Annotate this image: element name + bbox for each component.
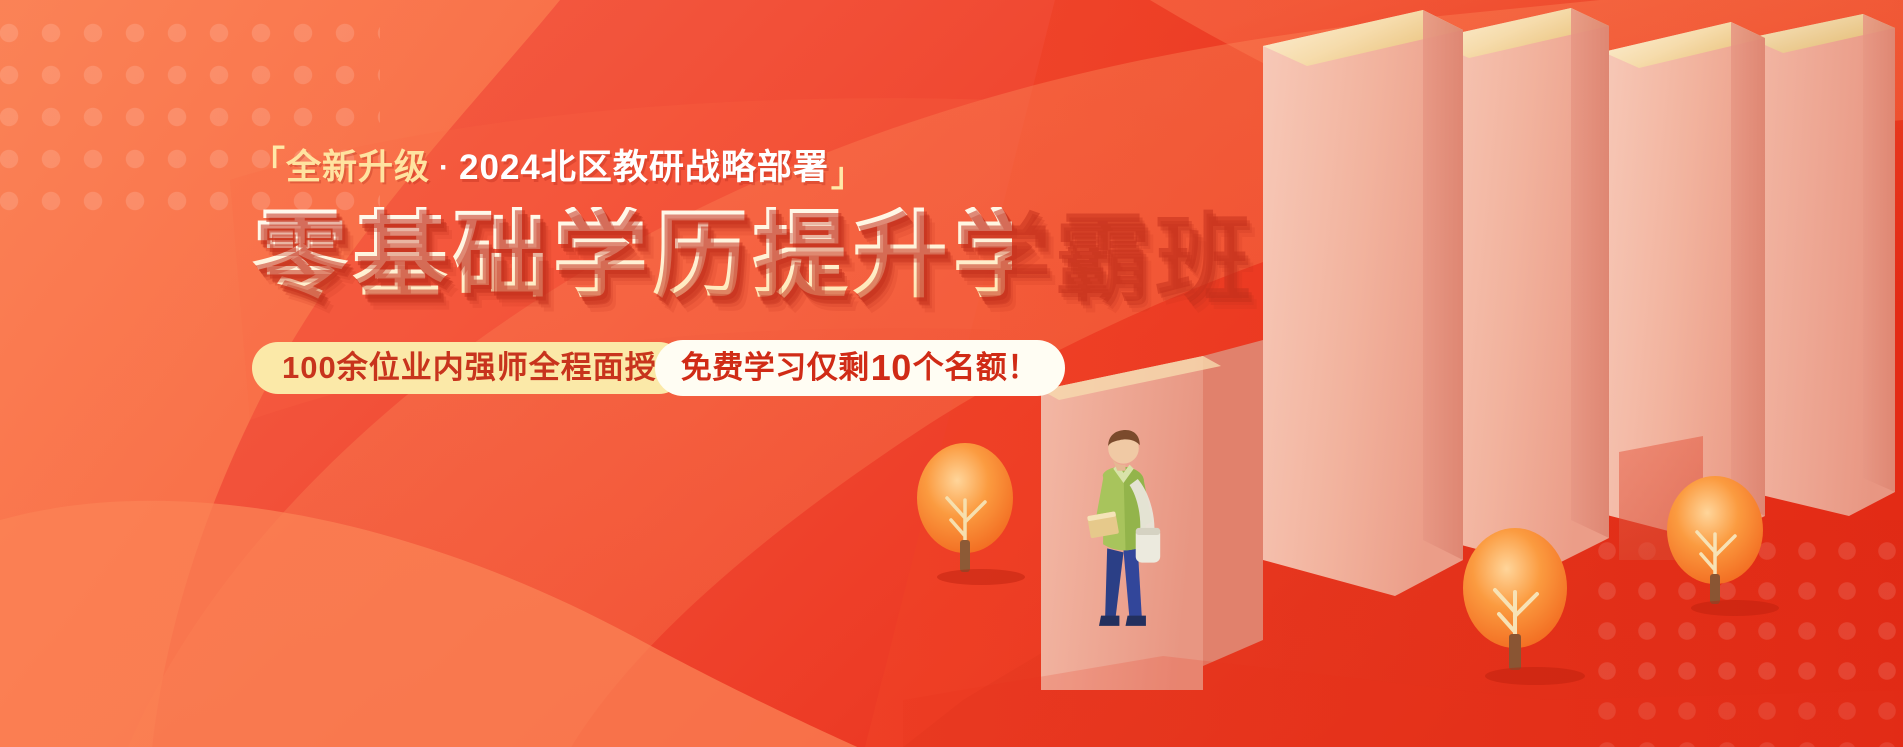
arch-gate-4: [1749, 14, 1895, 516]
badge-instructors: 100余位业内强师全程面授: [252, 342, 685, 394]
badge-free-slots-suffix: 个名额！: [913, 352, 1039, 383]
promo-banner: 「 全新升级 · 2024北区教研战略部署 」 零基础学历提升学霸班 100余位…: [0, 0, 1903, 747]
arch-gate-3: [1603, 22, 1765, 560]
badge-free-slots[interactable]: 免费学习仅剩10个名额！: [655, 340, 1065, 396]
eyebrow-separator-icon: ·: [430, 153, 459, 183]
banner-badge-row: 100余位业内强师全程面授 免费学习仅剩10个名额！: [252, 340, 1012, 396]
bracket-open-icon: 「: [252, 146, 286, 179]
bracket-close-icon: 」: [831, 158, 865, 191]
banner-text-block: 「 全新升级 · 2024北区教研战略部署 」 零基础学历提升学霸班 100余位…: [252, 150, 1012, 396]
eyebrow-white-text: 2024北区教研战略部署: [459, 150, 829, 185]
eyebrow-gold-text: 全新升级: [286, 150, 430, 185]
banner-headline: 零基础学历提升学霸班: [252, 207, 1012, 306]
badge-free-slots-number: 10: [870, 350, 913, 386]
banner-eyebrow: 「 全新升级 · 2024北区教研战略部署 」: [252, 150, 1012, 185]
tree-left: [917, 443, 1025, 585]
badge-free-slots-prefix: 免费学习仅剩: [681, 352, 870, 383]
